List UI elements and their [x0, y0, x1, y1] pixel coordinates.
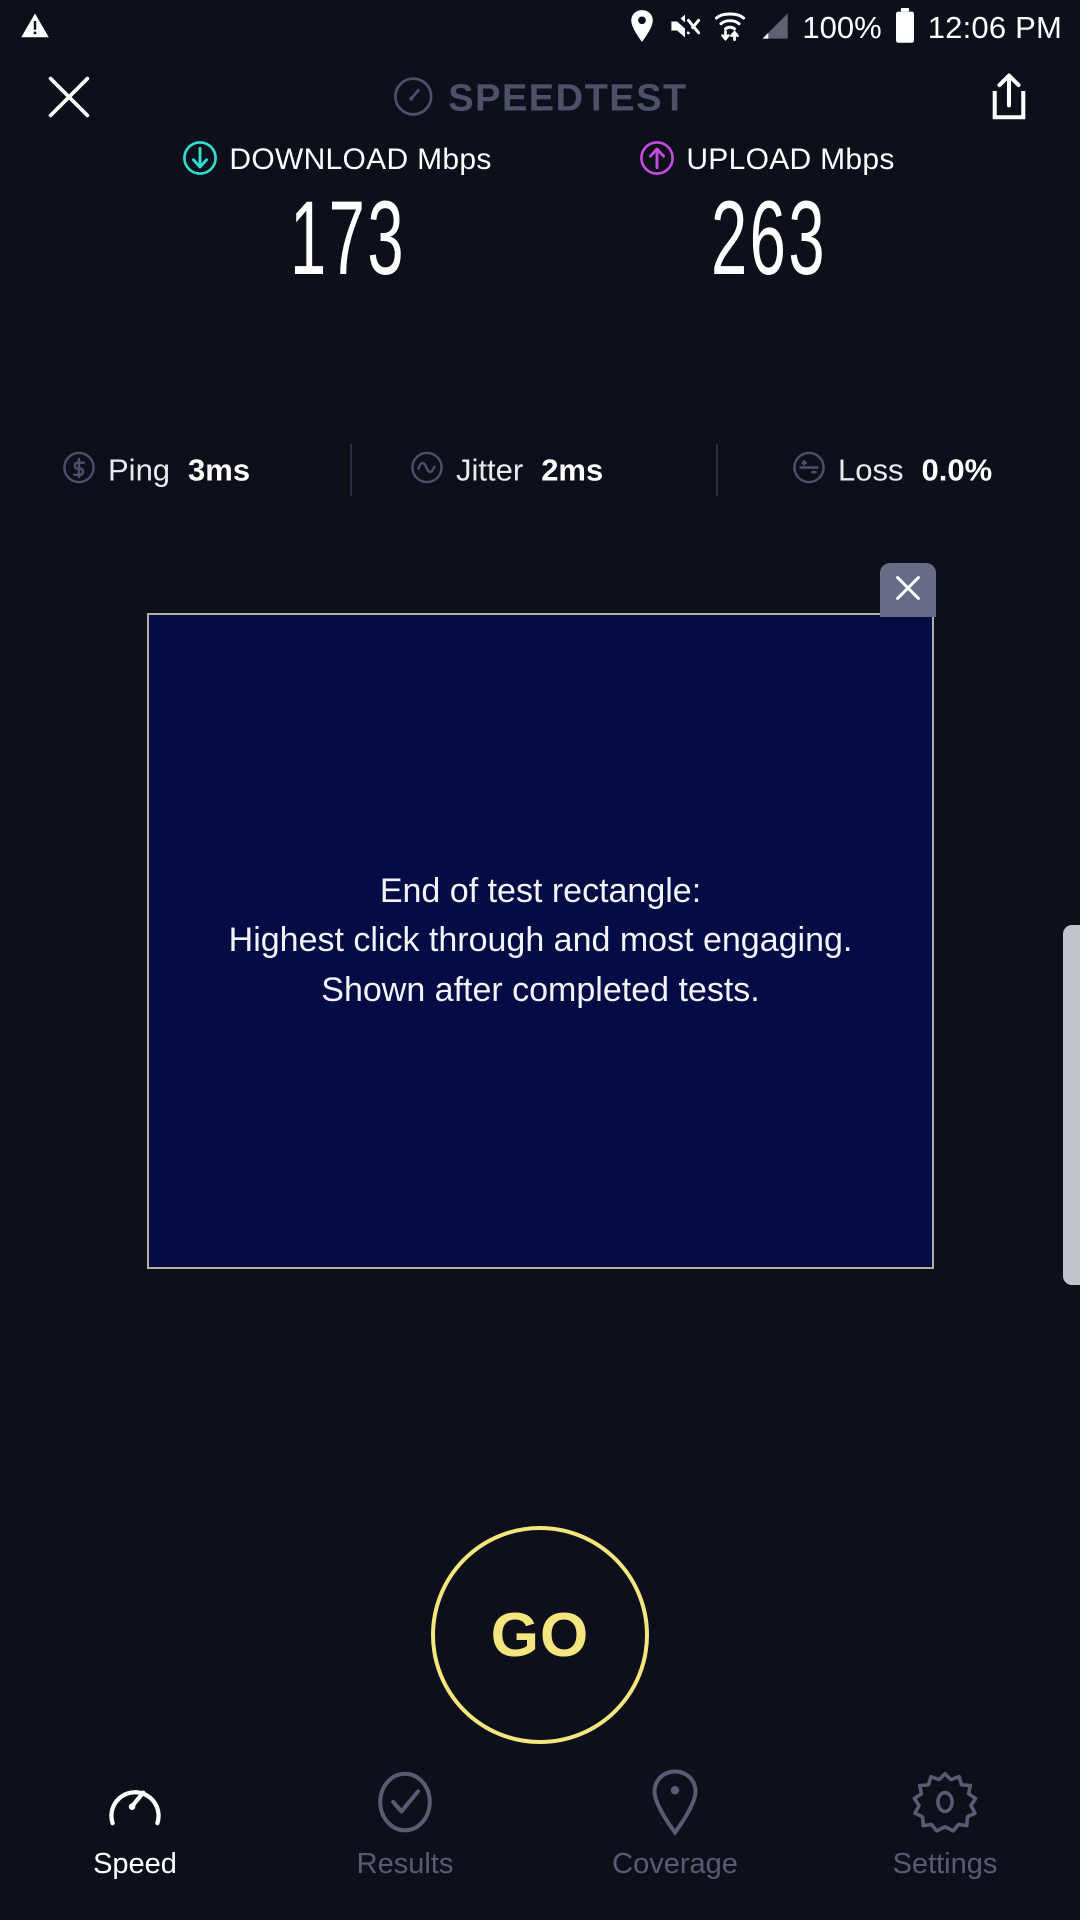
jitter-icon	[410, 451, 444, 490]
ping-stat: Ping 3ms	[62, 451, 250, 490]
check-circle-icon	[374, 1766, 436, 1838]
speedometer-icon	[392, 76, 434, 123]
upload-metric-header: UPLOAD Mbps	[567, 140, 967, 180]
download-arrow-icon	[182, 140, 218, 181]
stats-divider	[350, 444, 352, 496]
map-pin-icon	[648, 1766, 702, 1838]
speedtest-app-screen: 100% 12:06 PM	[0, 0, 1080, 1920]
close-button[interactable]	[38, 68, 100, 130]
nav-item-settings[interactable]: Settings	[810, 1750, 1080, 1920]
nav-label-settings: Settings	[893, 1848, 998, 1881]
battery-full-icon	[894, 8, 916, 49]
nav-label-speed: Speed	[93, 1848, 177, 1881]
status-bar: 100% 12:06 PM	[0, 0, 1080, 56]
nav-label-results: Results	[357, 1848, 454, 1881]
brand-title: SPEEDTEST	[448, 78, 687, 121]
ping-icon	[62, 451, 96, 490]
share-icon	[987, 72, 1031, 127]
volume-muted-icon	[668, 10, 702, 47]
loss-stat: Loss 0.0%	[792, 451, 992, 490]
brand-logo: SPEEDTEST	[392, 76, 687, 123]
ad-line-3: Shown after completed tests.	[159, 966, 922, 1015]
ping-label: Ping	[108, 452, 170, 488]
results-panel: DOWNLOAD Mbps 173 UPLOAD Mbps 263	[0, 140, 1080, 291]
upload-arrow-icon	[639, 140, 675, 181]
wifi-transfer-icon	[714, 9, 746, 48]
page-scrollbar[interactable]	[1063, 925, 1080, 1285]
warning-triangle-icon	[20, 11, 50, 46]
loss-label: Loss	[838, 452, 903, 488]
location-pin-icon	[628, 9, 656, 48]
nav-item-results[interactable]: Results	[270, 1750, 540, 1920]
loss-value: 0.0%	[921, 452, 992, 488]
ad-close-icon	[893, 573, 923, 608]
share-button[interactable]	[980, 68, 1038, 130]
go-button[interactable]: GO	[431, 1526, 649, 1744]
jitter-label: Jitter	[456, 452, 523, 488]
go-button-label: GO	[491, 1600, 589, 1671]
speed-metrics-row: DOWNLOAD Mbps 173 UPLOAD Mbps 263	[0, 140, 1080, 291]
ad-line-2: Highest click through and most engaging.	[159, 916, 922, 965]
download-metric-header: DOWNLOAD Mbps	[137, 140, 537, 180]
loss-icon	[792, 451, 826, 490]
nav-item-coverage[interactable]: Coverage	[540, 1750, 810, 1920]
advertisement-text: End of test rectangle: Highest click thr…	[149, 867, 932, 1015]
download-label: DOWNLOAD Mbps	[229, 143, 491, 177]
download-value: 173	[231, 186, 465, 291]
upload-metric: UPLOAD Mbps 263	[567, 140, 967, 291]
upload-value: 263	[646, 186, 892, 291]
battery-percent-label: 100%	[802, 10, 881, 46]
advertisement-banner[interactable]: End of test rectangle: Highest click thr…	[147, 613, 934, 1269]
close-icon	[46, 74, 92, 125]
nav-item-speed[interactable]: Speed	[0, 1750, 270, 1920]
jitter-stat: Jitter 2ms	[410, 451, 603, 490]
status-bar-clock: 12:06 PM	[928, 10, 1062, 46]
connection-stats-row: Ping 3ms Jitter 2ms	[0, 440, 1080, 500]
speedometer-icon	[102, 1766, 168, 1838]
nav-label-coverage: Coverage	[612, 1848, 738, 1881]
stats-divider	[716, 444, 718, 496]
app-header: SPEEDTEST	[0, 56, 1080, 142]
gear-icon	[912, 1766, 978, 1838]
cellular-signal-icon	[758, 11, 790, 46]
bottom-navigation-bar: Speed Results Coverage	[0, 1750, 1080, 1920]
jitter-value: 2ms	[541, 452, 603, 488]
download-metric: DOWNLOAD Mbps 173	[137, 140, 537, 291]
upload-label: UPLOAD Mbps	[686, 143, 894, 177]
ad-line-1: End of test rectangle:	[159, 867, 922, 916]
ad-close-button[interactable]	[880, 563, 936, 617]
ping-value: 3ms	[188, 452, 250, 488]
